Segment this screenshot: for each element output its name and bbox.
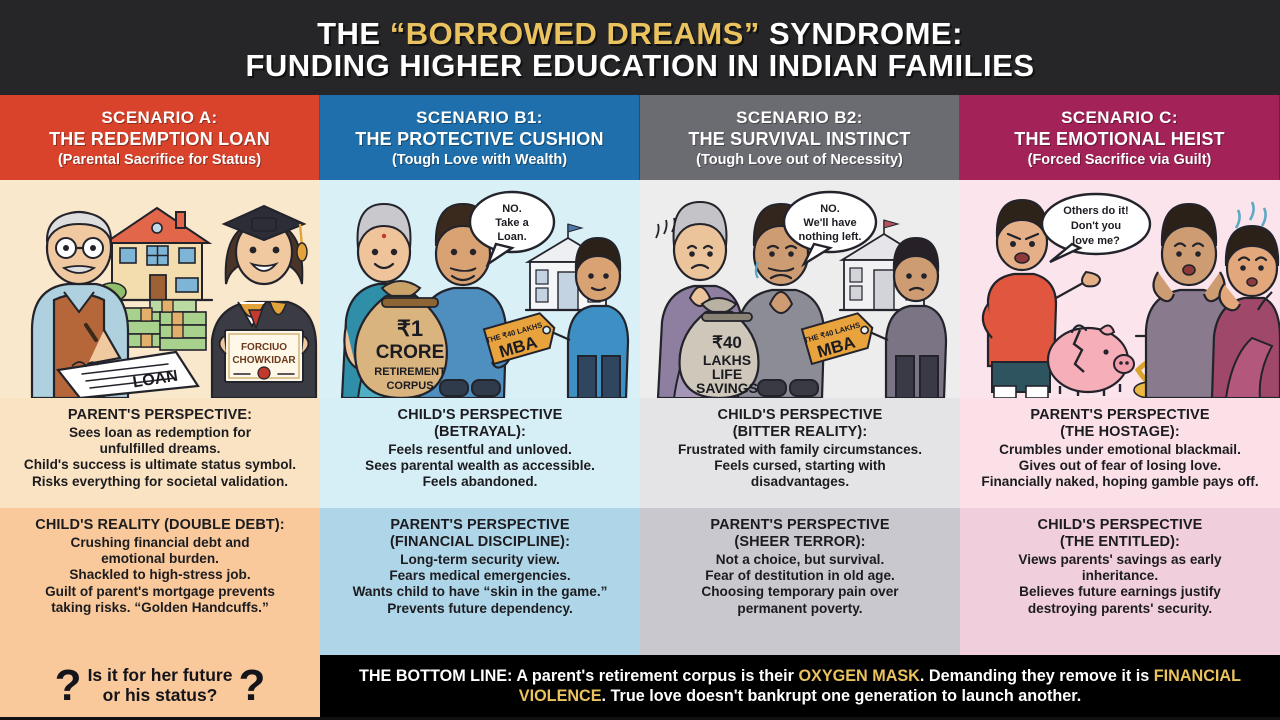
scenario-band-c: SCENARIO C: THE EMOTIONAL HEIST (Forced …	[960, 95, 1280, 180]
bottom-line-mid: . Demanding they remove it is	[920, 667, 1154, 685]
perspective-b1-row1-head: CHILD'S PERSPECTIVE(BETRAYAL):	[328, 407, 632, 441]
perspective-c-row1: PARENT'S PERSPECTIVE(THE HOSTAGE): Crumb…	[960, 398, 1280, 508]
scenario-b1-subtitle: (Tough Love with Wealth)	[392, 152, 567, 168]
scenario-band-row: SCENARIO A: THE REDEMPTION LOAN (Parenta…	[0, 95, 1280, 180]
perspective-c-row2: CHILD'S PERSPECTIVE(THE ENTITLED): Views…	[960, 508, 1280, 655]
perspective-b1-row1-body: Feels resentful and unloved.Sees parenta…	[328, 442, 632, 491]
perspective-row-2: CHILD'S REALITY (DOUBLE DEBT): Crushing …	[0, 508, 1280, 655]
perspective-b1-row2: PARENT'S PERSPECTIVE(FINANCIAL DISCIPLIN…	[320, 508, 640, 655]
footer-row: ? Is it for her futureor his status? ? T…	[0, 655, 1280, 717]
perspective-b2-row1-head: CHILD'S PERSPECTIVE(BITTER REALITY):	[648, 407, 952, 441]
speech-line-3: nothing left.	[799, 231, 862, 243]
bag-unit-label: CRORE	[376, 342, 445, 363]
bottom-line-pre: THE BOTTOM LINE: A parent's retirement c…	[359, 667, 798, 685]
question-mark-icon-left: ?	[55, 668, 82, 703]
page-title-line-1: THE “BORROWED DREAMS” SYNDROME:	[317, 18, 963, 50]
infographic-page: THE “BORROWED DREAMS” SYNDROME: FUNDING …	[0, 0, 1280, 720]
scenario-b2-name: THE SURVIVAL INSTINCT	[688, 129, 910, 150]
perspective-a-row2-body: Crushing financial debt andemotional bur…	[8, 535, 312, 617]
perspective-a-row1-head: PARENT'S PERSPECTIVE:	[8, 407, 312, 424]
perspective-a-row2: CHILD'S REALITY (DOUBLE DEBT): Crushing …	[0, 508, 320, 655]
illustration-scenario-c: Others do it! Don't you love me?	[960, 180, 1280, 398]
perspective-c-row2-head: CHILD'S PERSPECTIVE(THE ENTITLED):	[968, 517, 1272, 551]
scenario-b1-label: SCENARIO B1:	[416, 108, 543, 128]
illustration-scenario-b1: ₹1 CRORE RETIREMENT CORPUS	[320, 180, 640, 398]
footer-question-block: ? Is it for her futureor his status? ?	[0, 655, 320, 717]
speech-line-2: Take a	[495, 217, 529, 229]
footer-bottom-line: THE BOTTOM LINE: A parent's retirement c…	[320, 655, 1280, 717]
speech-line-3: Loan.	[497, 231, 526, 243]
scenario-c-label: SCENARIO C:	[1061, 108, 1178, 128]
speech-line-3: love me?	[1072, 235, 1120, 247]
scenario-a-label: SCENARIO A:	[101, 108, 217, 128]
bag-amount-label: ₹1	[397, 316, 423, 341]
perspective-c-row1-body: Crumbles under emotional blackmail.Gives…	[968, 442, 1272, 491]
certificate-line-1: FORCIUO	[241, 342, 287, 353]
speech-line-1: NO.	[820, 203, 840, 215]
speech-line-1: NO.	[502, 203, 522, 215]
bag-desc-line-3: SAVINGS	[696, 380, 758, 396]
illustration-scenario-a: LOAN	[0, 180, 320, 398]
perspective-b2-row2-body: Not a choice, but survival.Fear of desti…	[648, 552, 952, 617]
question-mark-icon-right: ?	[238, 668, 265, 703]
page-title-bar: THE “BORROWED DREAMS” SYNDROME: FUNDING …	[0, 0, 1280, 95]
footer-question-text: Is it for her futureor his status?	[88, 666, 233, 705]
perspective-b2-row2-head: PARENT'S PERSPECTIVE(SHEER TERROR):	[648, 517, 952, 551]
cash-stack-icon	[124, 300, 206, 350]
scenario-a-subtitle: (Parental Sacrifice for Status)	[58, 152, 261, 168]
scenario-b1-name: THE PROTECTIVE CUSHION	[355, 129, 603, 150]
bottom-line-highlight-1: OXYGEN MASK	[798, 667, 919, 685]
scenario-band-b1: SCENARIO B1: THE PROTECTIVE CUSHION (Tou…	[320, 95, 640, 180]
bag-desc-line-2: CORPUS	[386, 380, 433, 392]
perspective-b1-row2-body: Long-term security view.Fears medical em…	[328, 552, 632, 617]
perspective-b2-row1: CHILD'S PERSPECTIVE(BITTER REALITY): Fru…	[640, 398, 960, 508]
title-prefix: THE	[317, 16, 390, 51]
certificate-line-2: CHOWKIDAR	[232, 355, 296, 366]
scenario-c-subtitle: (Forced Sacrifice via Guilt)	[1028, 152, 1212, 168]
bottom-line-text: THE BOTTOM LINE: A parent's retirement c…	[334, 666, 1266, 707]
title-suffix: SYNDROME:	[760, 16, 963, 51]
scenario-band-a: SCENARIO A: THE REDEMPTION LOAN (Parenta…	[0, 95, 320, 180]
scenario-b2-label: SCENARIO B2:	[736, 108, 863, 128]
perspective-a-row1-body: Sees loan as redemption forunfulfilled d…	[8, 425, 312, 490]
perspective-a-row2-head: CHILD'S REALITY (DOUBLE DEBT):	[8, 517, 312, 534]
illustration-scenario-b2: ₹40 LAKHS LIFE SAVINGS	[640, 180, 960, 398]
perspective-b1-row2-head: PARENT'S PERSPECTIVE(FINANCIAL DISCIPLIN…	[328, 517, 632, 551]
certificate: FORCIUO CHOWKIDAR	[225, 330, 303, 382]
illustration-row: LOAN	[0, 180, 1280, 398]
perspective-a-row1: PARENT'S PERSPECTIVE: Sees loan as redem…	[0, 398, 320, 508]
perspective-b1-row1: CHILD'S PERSPECTIVE(BETRAYAL): Feels res…	[320, 398, 640, 508]
scenario-c-name: THE EMOTIONAL HEIST	[1014, 129, 1224, 150]
scenario-band-b2: SCENARIO B2: THE SURVIVAL INSTINCT (Toug…	[640, 95, 960, 180]
speech-line-2: We'll have	[803, 217, 856, 229]
speech-line-1: Others do it!	[1063, 205, 1128, 217]
perspective-c-row1-head: PARENT'S PERSPECTIVE(THE HOSTAGE):	[968, 407, 1272, 441]
scenario-b2-subtitle: (Tough Love out of Necessity)	[696, 152, 903, 168]
bottom-line-post: . True love doesn't bankrupt one generat…	[602, 687, 1082, 705]
perspective-b2-row1-body: Frustrated with family circumstances.Fee…	[648, 442, 952, 491]
title-highlight: “BORROWED DREAMS”	[390, 16, 760, 51]
perspective-b2-row2: PARENT'S PERSPECTIVE(SHEER TERROR): Not …	[640, 508, 960, 655]
perspective-row-1: PARENT'S PERSPECTIVE: Sees loan as redem…	[0, 398, 1280, 508]
perspective-c-row2-body: Views parents' savings as earlyinheritan…	[968, 552, 1272, 617]
bag-desc-line-1: RETIREMENT	[374, 366, 446, 378]
scenario-a-name: THE REDEMPTION LOAN	[49, 129, 270, 150]
bag-amount-label: ₹40	[712, 333, 742, 352]
speech-line-2: Don't you	[1071, 220, 1121, 232]
page-title-line-2: FUNDING HIGHER EDUCATION IN INDIAN FAMIL…	[245, 50, 1034, 82]
